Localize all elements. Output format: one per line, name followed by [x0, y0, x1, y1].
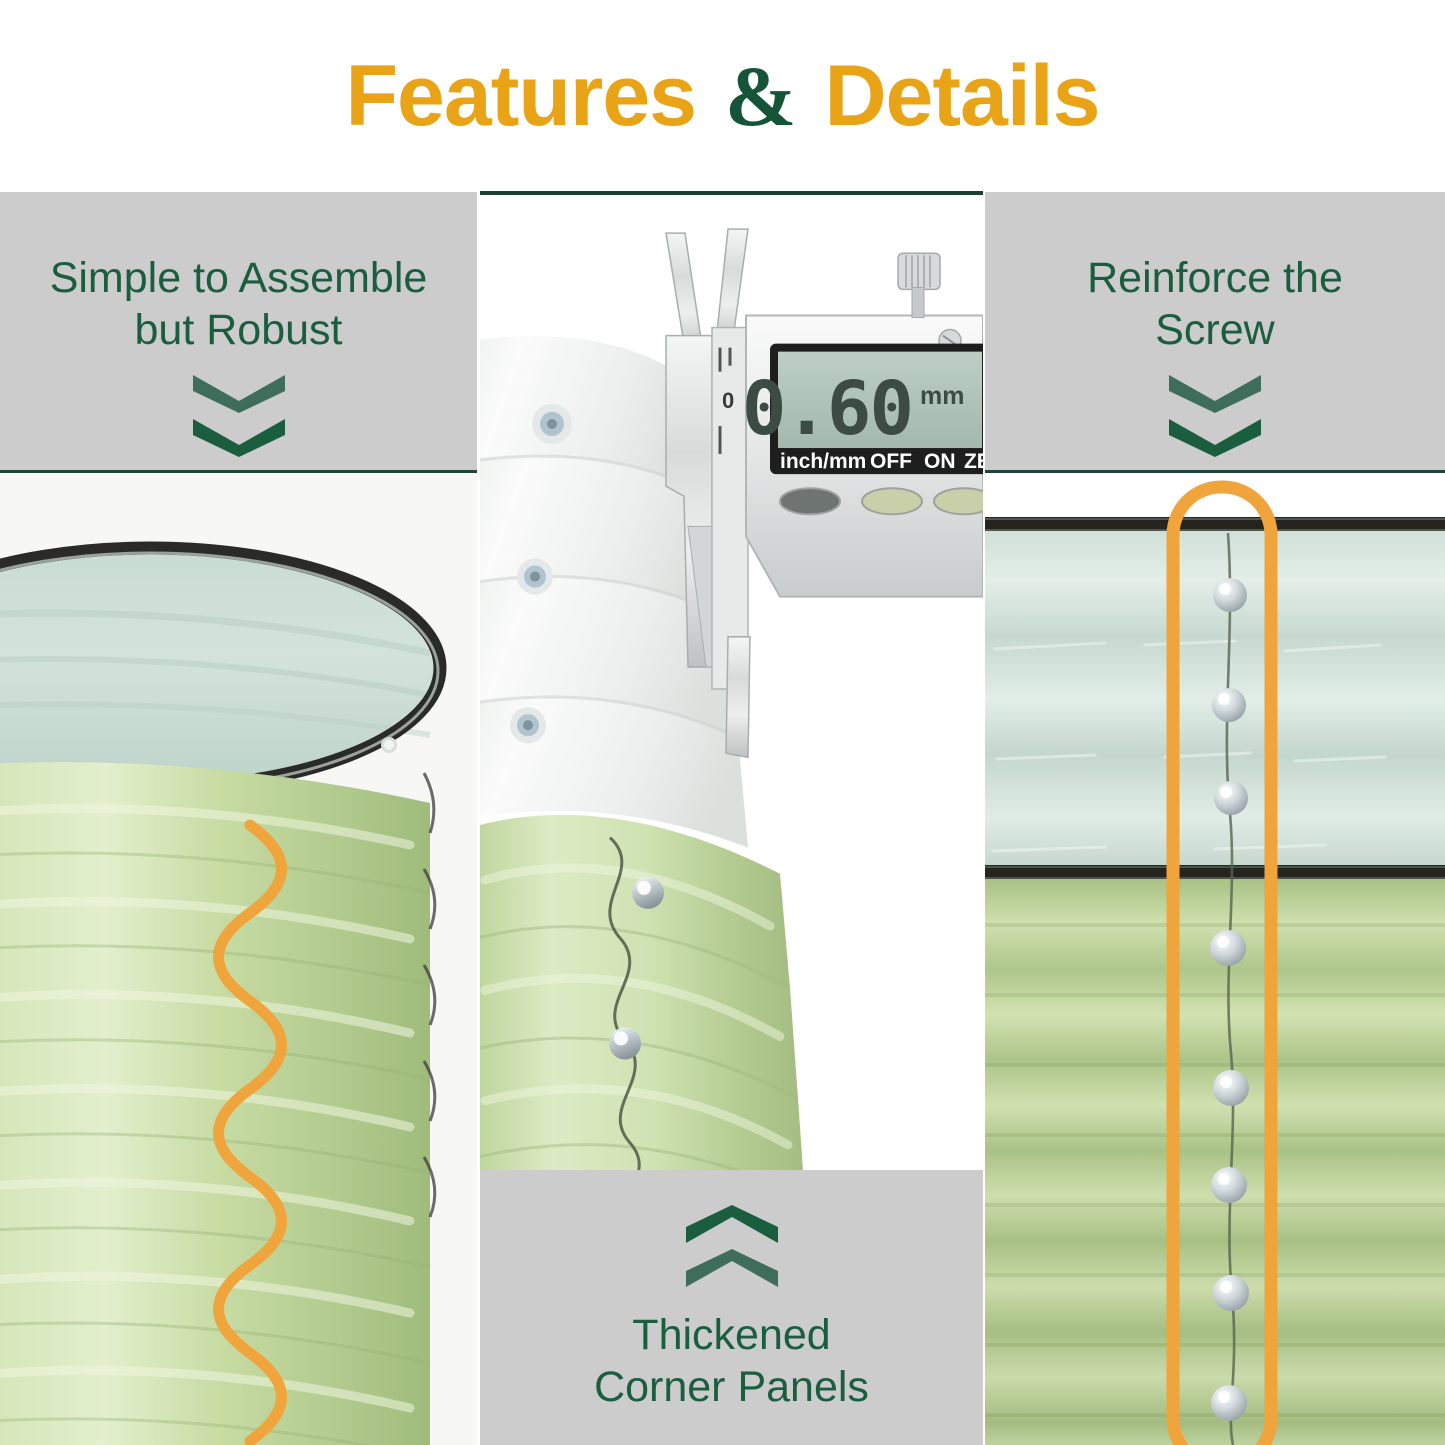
- caliper-button-zero[interactable]: [934, 488, 983, 514]
- green-corrugated-wall: [985, 879, 1445, 1445]
- caption-panel-thickened-corner-panels: Thickened Corner Panels: [480, 1166, 983, 1445]
- center-caption-line2: Corner Panels: [594, 1361, 869, 1413]
- green-panel: [480, 815, 805, 1170]
- title-text-part2: Details: [802, 48, 1100, 144]
- chevron-up-icon: [686, 1205, 778, 1243]
- chevron-down-icon: [1169, 419, 1261, 457]
- left-caption-line2: but Robust: [50, 304, 428, 356]
- caliper-button-label-off: OFF: [870, 450, 912, 473]
- screw: [1211, 1385, 1247, 1421]
- chevron-down-icon: [1169, 375, 1261, 413]
- zinc-screw: [510, 707, 546, 743]
- page-title: Features & Details: [346, 53, 1100, 139]
- screw-seam-illustration: [985, 473, 1445, 1445]
- photo-caliper-measurement: 0 0.60 mm in: [480, 191, 983, 1170]
- header-bar: Features & Details: [0, 0, 1445, 192]
- zinc-screw: [517, 558, 553, 594]
- zinc-screw: [532, 404, 572, 444]
- seam-screw: [609, 1027, 641, 1059]
- chevron-down-icon: [193, 419, 285, 457]
- chevron-down-stack: [193, 375, 285, 457]
- chevron-down-icon: [193, 375, 285, 413]
- caliper-button-inch-mm[interactable]: [780, 488, 840, 514]
- screw: [1213, 1070, 1249, 1106]
- caliper-illustration: 0 0.60 mm in: [480, 195, 983, 1170]
- caption-panel-reinforce-the-screw: Reinforce the Screw: [985, 192, 1445, 473]
- title-text-part1: Features: [346, 48, 719, 144]
- screw: [1214, 781, 1248, 815]
- caliper-reading-unit: mm: [920, 382, 964, 410]
- caliper-button-label-inch-mm: inch/mm: [780, 450, 866, 473]
- screw: [1213, 1275, 1249, 1311]
- chevron-down-stack: [1169, 375, 1261, 457]
- left-caption-line1: Simple to Assemble: [50, 252, 428, 304]
- round-bed-illustration: [0, 473, 477, 1445]
- center-caption-text: Thickened Corner Panels: [594, 1309, 869, 1414]
- screw: [1211, 1167, 1247, 1203]
- right-caption-line2: Screw: [1087, 304, 1343, 356]
- screw: [1212, 688, 1246, 722]
- caliper-reading-value: 0.60: [742, 366, 912, 452]
- center-caption-line1: Thickened: [594, 1309, 869, 1361]
- caliper-button-on-off[interactable]: [862, 488, 922, 514]
- right-caption-text: Reinforce the Screw: [1087, 252, 1343, 357]
- screw: [1213, 578, 1247, 612]
- photo-screw-seam-detail: [985, 473, 1445, 1445]
- right-caption-line1: Reinforce the: [1087, 252, 1343, 304]
- caliper-button-label-on: ON: [924, 450, 955, 473]
- title-ampersand: &: [719, 48, 802, 144]
- screw: [1210, 930, 1246, 966]
- chevron-up-icon: [686, 1249, 778, 1287]
- left-caption-text: Simple to Assemble but Robust: [50, 252, 428, 357]
- chevron-up-stack: [686, 1205, 778, 1287]
- caption-panel-simple-to-assemble: Simple to Assemble but Robust: [0, 192, 477, 473]
- caliper-button-label-zero: ZERO: [964, 450, 983, 473]
- caliper-scale-label: 0: [722, 388, 734, 413]
- seam-screw: [632, 877, 664, 909]
- photo-round-raised-bed: [0, 473, 477, 1445]
